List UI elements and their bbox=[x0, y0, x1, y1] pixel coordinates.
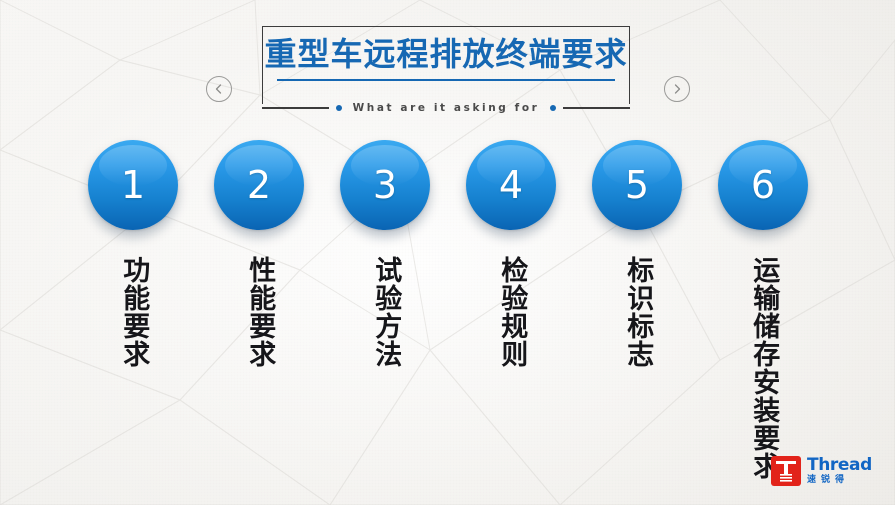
rule-segment-left bbox=[262, 107, 329, 109]
step-item-5[interactable]: 5 标识标志 bbox=[589, 140, 685, 368]
logo-name-en: Thread bbox=[807, 457, 872, 474]
slide-header: 重型车远程排放终端要求 What are it asking for bbox=[0, 26, 895, 111]
step-bubble-4[interactable]: 4 bbox=[466, 140, 556, 230]
step-bubble-1[interactable]: 1 bbox=[88, 140, 178, 230]
step-number-3: 3 bbox=[373, 166, 397, 204]
bullet-dot-right bbox=[550, 105, 556, 111]
step-label-4: 检验规则 bbox=[497, 256, 526, 368]
step-bubble-3[interactable]: 3 bbox=[340, 140, 430, 230]
step-item-1[interactable]: 1 功能要求 bbox=[85, 140, 181, 368]
brand-logo: Thread 速锐得 bbox=[771, 456, 872, 486]
prev-arrow-button[interactable] bbox=[206, 76, 232, 102]
step-label-6: 运输储存安装要求 bbox=[749, 256, 778, 480]
step-number-6: 6 bbox=[751, 166, 775, 204]
step-bubble-2[interactable]: 2 bbox=[214, 140, 304, 230]
title-frame: 重型车远程排放终端要求 bbox=[262, 26, 630, 104]
title-underline bbox=[277, 79, 615, 81]
step-label-3: 试验方法 bbox=[371, 256, 400, 368]
rule-segment-right bbox=[563, 107, 630, 109]
step-bubble-6[interactable]: 6 bbox=[718, 140, 808, 230]
chevron-left-icon bbox=[213, 83, 225, 95]
step-item-3[interactable]: 3 试验方法 bbox=[337, 140, 433, 368]
page-subtitle: What are it asking for bbox=[349, 102, 544, 114]
step-label-1: 功能要求 bbox=[119, 256, 148, 368]
step-item-4[interactable]: 4 检验规则 bbox=[463, 140, 559, 368]
step-item-6[interactable]: 6 运输储存安装要求 bbox=[715, 140, 811, 480]
step-item-2[interactable]: 2 性能要求 bbox=[211, 140, 307, 368]
slide-canvas: 重型车远程排放终端要求 What are it asking for 1 功能要… bbox=[0, 0, 895, 505]
step-number-5: 5 bbox=[625, 166, 649, 204]
chevron-right-icon bbox=[671, 83, 683, 95]
bullet-dot-left bbox=[336, 105, 342, 111]
step-number-2: 2 bbox=[247, 166, 271, 204]
step-label-5: 标识标志 bbox=[623, 256, 652, 368]
step-list: 1 功能要求 2 性能要求 3 试验方法 4 检验规则 5 标 bbox=[0, 140, 895, 470]
step-bubble-5[interactable]: 5 bbox=[592, 140, 682, 230]
step-number-1: 1 bbox=[121, 166, 145, 204]
step-number-4: 4 bbox=[499, 166, 523, 204]
logo-name-cn: 速锐得 bbox=[807, 475, 872, 485]
page-title: 重型车远程排放终端要求 bbox=[263, 31, 629, 77]
step-label-2: 性能要求 bbox=[245, 256, 274, 368]
thread-logo-mark-icon bbox=[771, 456, 801, 486]
logo-wordmark: Thread 速锐得 bbox=[807, 457, 872, 485]
subtitle-rule: What are it asking for bbox=[262, 102, 630, 114]
next-arrow-button[interactable] bbox=[664, 76, 690, 102]
